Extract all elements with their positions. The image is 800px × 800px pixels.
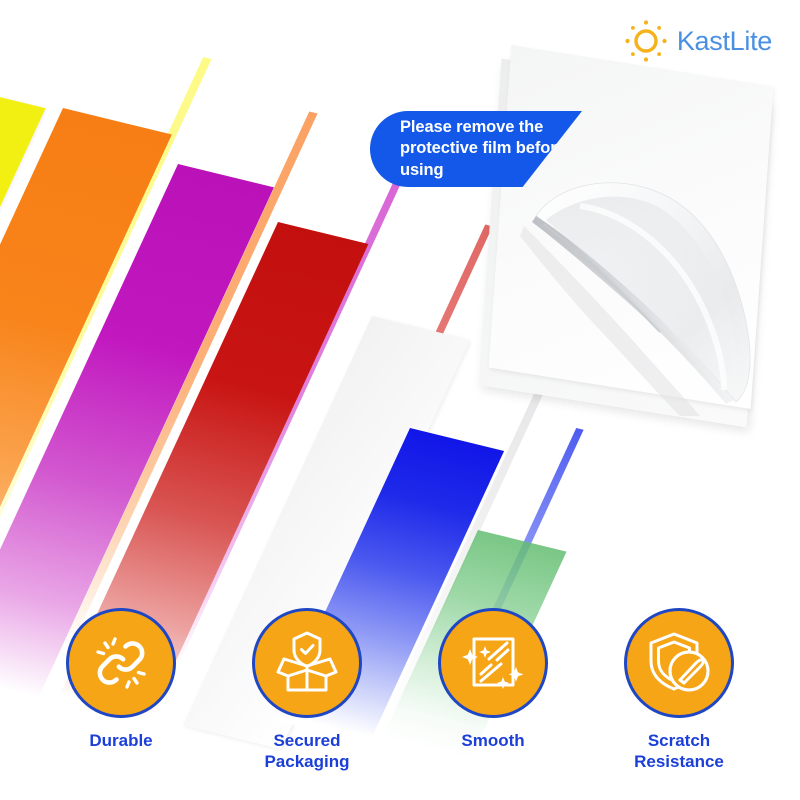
shield-knife-icon — [644, 628, 714, 698]
brand-logo[interactable]: KastLite — [623, 18, 772, 64]
feature-badges: Durable — [0, 608, 800, 772]
feature-smooth-circle — [438, 608, 548, 718]
feature-scratch-resistance-circle — [624, 608, 734, 718]
brand-name: KastLite — [677, 26, 772, 57]
feature-smooth[interactable]: Smooth — [408, 608, 578, 751]
shield-box-icon — [272, 628, 342, 698]
feature-secured-packaging[interactable]: Secured Packaging — [222, 608, 392, 772]
feature-durable[interactable]: Durable — [36, 608, 206, 751]
product-marketing-image: Please remove the protective film before… — [0, 0, 800, 800]
feature-secured-packaging-label: Secured Packaging — [264, 731, 349, 772]
feature-secured-packaging-circle — [252, 608, 362, 718]
shiny-panel-icon — [459, 629, 527, 697]
chain-link-icon — [88, 630, 154, 696]
sun-icon — [623, 18, 669, 64]
feature-durable-circle — [66, 608, 176, 718]
feature-durable-label: Durable — [89, 731, 152, 751]
feature-scratch-resistance[interactable]: Scratch Resistance — [594, 608, 764, 772]
feature-smooth-label: Smooth — [461, 731, 524, 751]
feature-scratch-resistance-label: Scratch Resistance — [634, 731, 724, 772]
